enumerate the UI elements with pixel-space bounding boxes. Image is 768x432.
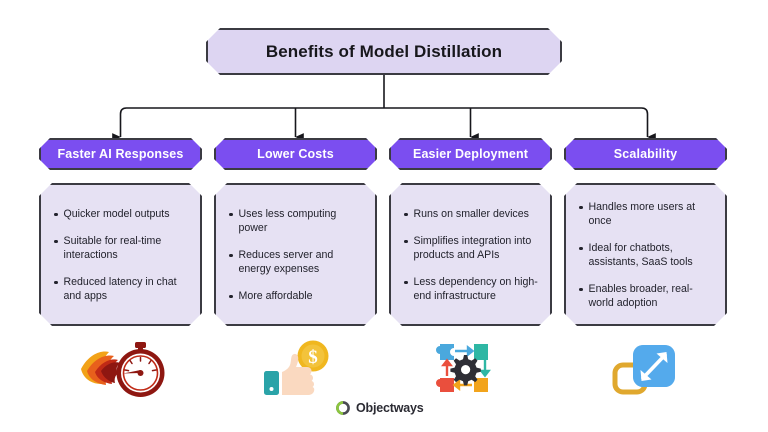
list-item: Ideal for chatbots, assistants, SaaS too… [579, 241, 714, 269]
bullet-text: More affordable [239, 289, 313, 303]
diagram-canvas: Benefits of Model Distillation Faster AI… [0, 0, 768, 432]
branch-body-3: Handles more users at once Ideal for cha… [564, 183, 727, 326]
bullet-dot-icon [54, 281, 58, 285]
list-item: Less dependency on high-end infrastructu… [404, 275, 539, 303]
bullet-dot-icon [579, 288, 583, 292]
branch-column-lower-costs: Lower Costs Uses less computing power Re… [214, 138, 377, 326]
branch-header-0[interactable]: Faster AI Responses [39, 138, 202, 170]
branch-header-label: Scalability [614, 147, 678, 161]
bullet-text: Simplifies integration into products and… [414, 234, 540, 262]
icon-slot-2 [389, 334, 552, 404]
list-item: Runs on smaller devices [404, 207, 539, 221]
list-item: Quicker model outputs [54, 207, 189, 221]
branch-column-easier-deployment: Easier Deployment Runs on smaller device… [389, 138, 552, 326]
branch-header-label: Easier Deployment [413, 147, 528, 161]
branch-header-1[interactable]: Lower Costs [214, 138, 377, 170]
brand-name: Objectways [356, 401, 423, 415]
list-item: More affordable [229, 289, 364, 303]
branch-header-2[interactable]: Easier Deployment [389, 138, 552, 170]
bullet-dot-icon [229, 295, 233, 299]
branch-header-label: Faster AI Responses [57, 147, 183, 161]
bullet-text: Runs on smaller devices [414, 207, 529, 221]
bullet-dot-icon [54, 213, 58, 217]
flaming-stopwatch-icon [73, 338, 169, 400]
bullet-text: Reduces server and energy expenses [239, 248, 365, 276]
bullet-dot-icon [54, 240, 58, 244]
bullet-text: Suitable for real-time interactions [64, 234, 190, 262]
icon-slot-0 [39, 334, 202, 404]
bullet-dot-icon [404, 213, 408, 217]
branch-body-2: Runs on smaller devices Simplifies integ… [389, 183, 552, 326]
bullet-text: Quicker model outputs [64, 207, 170, 221]
branch-header-3[interactable]: Scalability [564, 138, 727, 170]
bullet-dot-icon [404, 240, 408, 244]
list-item: Uses less computing power [229, 207, 364, 235]
resize-arrow-icon [603, 339, 689, 399]
list-item: Simplifies integration into products and… [404, 234, 539, 262]
bullet-text: Uses less computing power [239, 207, 365, 235]
svg-text:$: $ [308, 347, 318, 368]
page-title: Benefits of Model Distillation [266, 42, 502, 62]
bullet-dot-icon [404, 281, 408, 285]
list-item: Enables broader, real-world adoption [579, 282, 714, 310]
list-item: Suitable for real-time interactions [54, 234, 189, 262]
bullet-text: Ideal for chatbots, assistants, SaaS too… [589, 241, 715, 269]
icon-slot-3 [564, 334, 727, 404]
bullet-text: Reduced latency in chat and apps [64, 275, 190, 303]
puzzle-gear-icon [428, 338, 514, 400]
list-item: Handles more users at once [579, 200, 714, 228]
branch-column-faster-ai-responses: Faster AI Responses Quicker model output… [39, 138, 202, 326]
branch-header-label: Lower Costs [257, 147, 334, 161]
bullet-dot-icon [579, 206, 583, 210]
diagram-title-node: Benefits of Model Distillation [206, 28, 562, 75]
bullet-text: Enables broader, real-world adoption [589, 282, 715, 310]
branch-body-0: Quicker model outputs Suitable for real-… [39, 183, 202, 326]
list-item: Reduces server and energy expenses [229, 248, 364, 276]
objectways-ring-icon [335, 400, 351, 416]
branch-column-scalability: Scalability Handles more users at once I… [564, 138, 727, 326]
thumbs-up-coin-icon: $ [251, 339, 341, 399]
bullet-dot-icon [229, 213, 233, 217]
bullet-dot-icon [579, 247, 583, 251]
list-item: Reduced latency in chat and apps [54, 275, 189, 303]
branch-body-1: Uses less computing power Reduces server… [214, 183, 377, 326]
icon-slot-1: $ [214, 334, 377, 404]
bullet-text: Less dependency on high-end infrastructu… [414, 275, 540, 303]
bullet-text: Handles more users at once [589, 200, 715, 228]
bullet-dot-icon [229, 254, 233, 258]
brand-logo: Objectways [335, 400, 423, 416]
